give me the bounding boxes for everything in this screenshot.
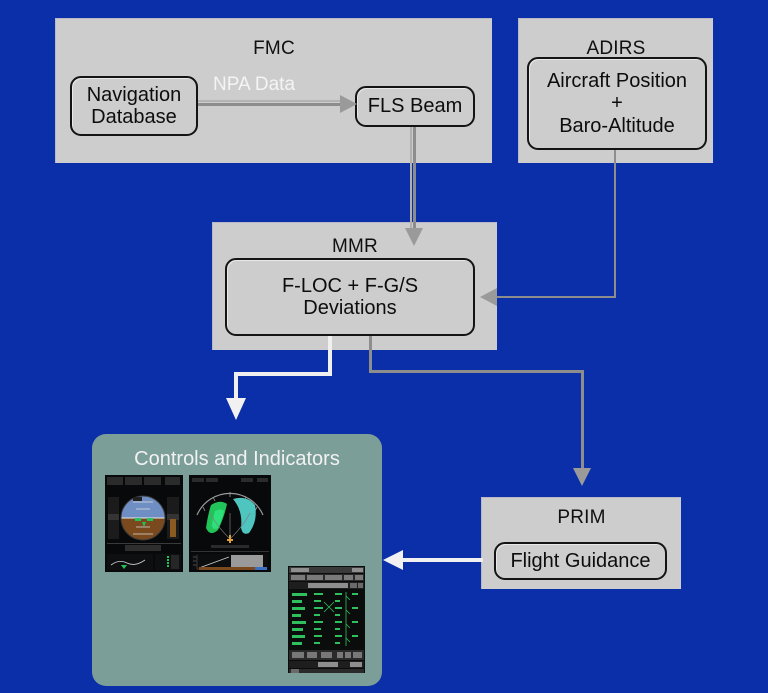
connector-mmr-to-prim-arrowhead [573, 468, 591, 486]
diagram-canvas: FMC Navigation Database FLS Beam NPA Dat… [0, 0, 768, 693]
connector-navdb-to-flsbeam-line [198, 103, 345, 106]
connector-adirs-to-mmr-horizontal [497, 296, 616, 298]
connector-mmr-to-controls-vertical-top [328, 336, 332, 375]
connector-mmr-to-prim-horizontal [369, 370, 584, 373]
navigation-database-line-2: Database [87, 106, 182, 128]
connector-mmr-to-controls-horizontal [234, 372, 332, 376]
display-mcdu-panel[interactable] [288, 566, 365, 673]
connector-flsbeam-to-mmr-highlight [410, 127, 412, 235]
component-navigation-database[interactable]: Navigation Database [70, 76, 198, 136]
connector-prim-to-controls-line [403, 558, 483, 562]
display-primary-flight-display[interactable] [105, 475, 183, 572]
fls-beam-label: FLS Beam [362, 95, 468, 117]
connector-label-npa-data: NPA Data [213, 74, 295, 96]
connector-navdb-to-flsbeam-highlight [198, 100, 345, 102]
component-flight-guidance[interactable]: Flight Guidance [494, 542, 667, 580]
deviations-line-2: Deviations [282, 297, 418, 319]
display-navigation-display[interactable] [189, 475, 271, 572]
panel-title-controls-and-indicators: Controls and Indicators [92, 448, 382, 471]
connector-navdb-to-flsbeam-arrowhead [340, 95, 357, 113]
deviations-line-1: F-LOC + F-G/S [282, 275, 418, 297]
aircraft-position-line-1: Aircraft Position [547, 70, 687, 92]
navigation-database-label: Navigation Database [81, 84, 188, 129]
connector-mmr-to-controls-arrowhead [226, 398, 246, 420]
connector-adirs-to-mmr-vertical [614, 150, 616, 297]
system-title-prim: PRIM [482, 507, 681, 529]
system-title-fmc: FMC [56, 38, 492, 60]
connector-adirs-to-mmr-arrowhead [480, 288, 497, 306]
flight-guidance-label: Flight Guidance [504, 550, 656, 572]
aircraft-position-line-3: Baro-Altitude [547, 115, 687, 137]
navigation-database-line-1: Navigation [87, 84, 182, 106]
component-fls-beam[interactable]: FLS Beam [355, 86, 475, 127]
connector-flsbeam-to-mmr-line [413, 127, 416, 235]
connector-prim-to-controls-arrowhead [383, 550, 403, 570]
connector-mmr-to-prim-vertical-bottom [581, 370, 584, 474]
connector-mmr-to-prim-vertical-top [369, 336, 372, 372]
component-aircraft-position[interactable]: Aircraft Position + Baro-Altitude [527, 57, 707, 150]
aircraft-position-label: Aircraft Position + Baro-Altitude [541, 70, 693, 137]
deviations-label: F-LOC + F-G/S Deviations [276, 275, 424, 320]
aircraft-position-line-2: + [547, 92, 687, 114]
system-title-mmr: MMR [213, 236, 497, 258]
connector-flsbeam-to-mmr-arrowhead [405, 228, 423, 246]
component-deviations[interactable]: F-LOC + F-G/S Deviations [225, 258, 475, 336]
